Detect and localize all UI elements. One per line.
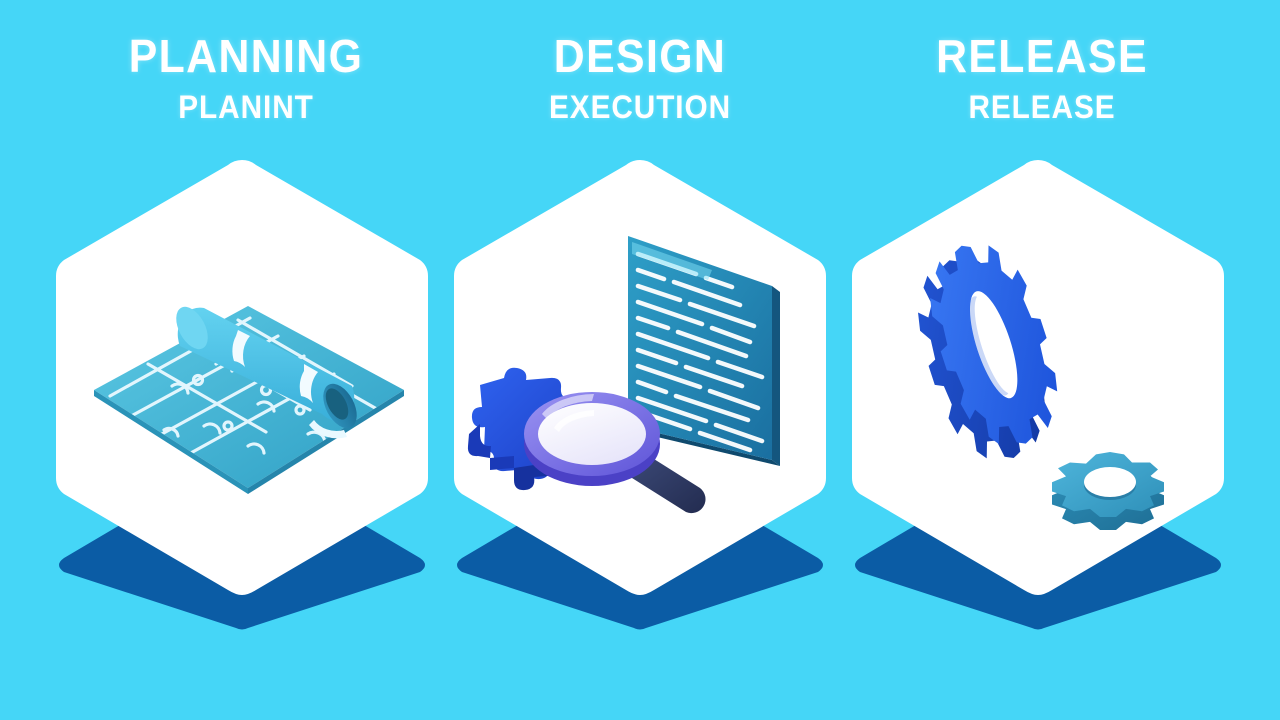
card-hexagon-planning <box>52 158 432 638</box>
card-design[interactable] <box>450 158 830 638</box>
column-heading-design: DESIGN EXECUTION <box>430 30 850 126</box>
card-release[interactable] <box>848 158 1228 638</box>
infographic-canvas: PLANNING PLANINT DESIGN EXECUTION RELEAS… <box>0 0 1280 720</box>
card-hexagon-release <box>848 158 1228 638</box>
column-title-release: RELEASE <box>847 30 1238 82</box>
column-heading-release: RELEASE RELEASE <box>832 30 1252 126</box>
card-planning[interactable] <box>52 158 432 638</box>
column-subtitle-design: EXECUTION <box>445 88 836 126</box>
card-hexagon-design <box>450 158 830 638</box>
column-title-planning: PLANNING <box>51 30 442 82</box>
column-subtitle-release: RELEASE <box>847 88 1238 126</box>
column-subtitle-planning: PLANINT <box>51 88 442 126</box>
column-heading-planning: PLANNING PLANINT <box>36 30 456 126</box>
column-title-design: DESIGN <box>445 30 836 82</box>
